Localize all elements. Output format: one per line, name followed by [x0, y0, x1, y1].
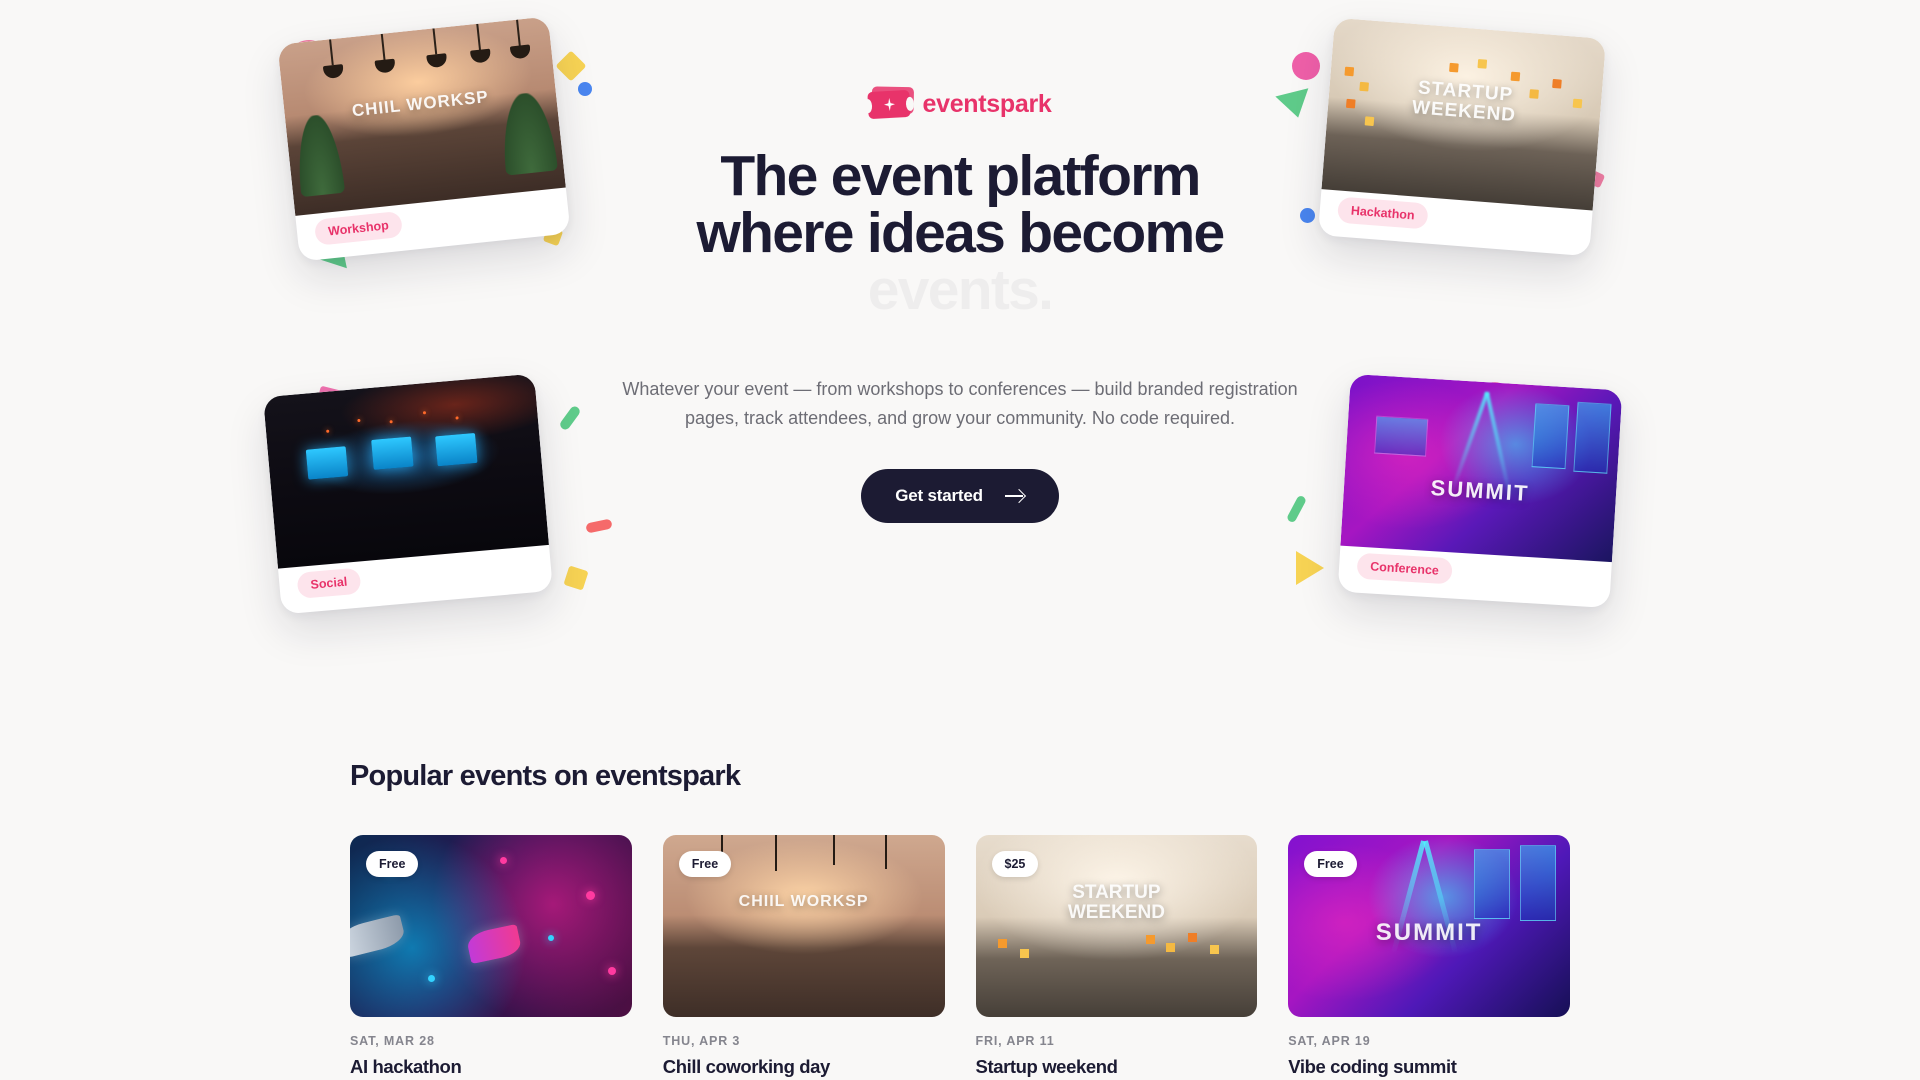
event-card[interactable]: STARTUP WEEKEND $25 FRI, APR 11 Startup …: [976, 835, 1258, 1078]
landing-page: CHIIL WORKSP Workshop STARTU: [0, 0, 1920, 1080]
headline-line-1: The event platform: [580, 148, 1340, 205]
event-date: SAT, MAR 28: [350, 1034, 632, 1048]
hackathon-photo: STARTUP WEEKEND: [1321, 18, 1606, 211]
event-card[interactable]: Free SAT, MAR 28 AI hackathon: [350, 835, 632, 1078]
brand-name: eventspark: [922, 90, 1051, 119]
deco-circle-magenta-tr: [1292, 52, 1320, 80]
floating-card-conference[interactable]: SUMMIT Conference: [1338, 374, 1623, 608]
brand-logo: eventspark: [580, 82, 1340, 126]
event-price-badge: $25: [992, 851, 1039, 877]
event-thumbnail: SUMMIT Free: [1288, 835, 1570, 1017]
arrow-right-icon: [1005, 489, 1025, 503]
event-price-badge: Free: [366, 851, 418, 877]
event-card[interactable]: CHIIL WORKSP Free THU, APR 3 Chill cowor…: [663, 835, 945, 1078]
event-date: THU, APR 3: [663, 1034, 945, 1048]
popular-events-title: Popular events on eventspark: [350, 760, 1570, 793]
event-title: AI hackathon: [350, 1056, 632, 1078]
event-date: FRI, APR 11: [976, 1034, 1258, 1048]
get-started-button[interactable]: Get started: [861, 469, 1059, 523]
conference-photo-art: [1340, 374, 1622, 562]
event-thumb-caption: CHIIL WORKSP: [663, 893, 945, 911]
social-photo-art: [263, 374, 549, 569]
deco-triangle-yellow-br: [1296, 551, 1324, 585]
event-thumbnail: CHIIL WORKSP Free: [663, 835, 945, 1017]
floating-card-workshop[interactable]: CHIIL WORKSP Workshop: [277, 16, 570, 261]
popular-events-section: Popular events on eventspark: [0, 760, 1920, 1078]
social-photo: [263, 374, 549, 569]
event-price-badge: Free: [1304, 851, 1356, 877]
deco-square-yellow-bl: [563, 565, 588, 590]
workshop-badge: Workshop: [314, 211, 403, 246]
floating-card-social[interactable]: Social: [263, 374, 553, 615]
social-badge: Social: [296, 568, 361, 599]
workshop-photo: CHIIL WORKSP: [277, 16, 565, 215]
event-card[interactable]: SUMMIT Free SAT, APR 19 Vibe coding summ…: [1288, 835, 1570, 1078]
hero-subheadline: Whatever your event — from workshops to …: [580, 375, 1340, 433]
hero-content: eventspark The event platform where idea…: [580, 82, 1340, 523]
event-title: Startup weekend: [976, 1056, 1258, 1078]
deco-diamond-yellow: [555, 50, 586, 81]
hackathon-badge: Hackathon: [1337, 197, 1429, 230]
hero-cta-wrap: Get started: [580, 469, 1340, 523]
event-thumb-caption: SUMMIT: [1288, 919, 1570, 947]
event-price-badge: Free: [679, 851, 731, 877]
conference-badge: Conference: [1356, 553, 1452, 585]
headline-line-3: events.: [580, 262, 1340, 319]
popular-events-inner: Popular events on eventspark: [350, 760, 1570, 1078]
event-thumbnail: Free: [350, 835, 632, 1017]
event-thumb-caption: STARTUP WEEKEND: [976, 883, 1258, 923]
deco-bar-green-bl: [558, 405, 581, 432]
page-title: The event platform where ideas become ev…: [580, 148, 1340, 319]
headline-line-2: where ideas become: [580, 205, 1340, 262]
floating-card-hackathon[interactable]: STARTUP WEEKEND Hackathon: [1318, 18, 1606, 257]
event-card-grid: Free SAT, MAR 28 AI hackathon CHIIL WORK…: [350, 835, 1570, 1078]
event-title: Vibe coding summit: [1288, 1056, 1570, 1078]
hero-section: CHIIL WORKSP Workshop STARTU: [0, 0, 1920, 690]
event-thumbnail: STARTUP WEEKEND $25: [976, 835, 1258, 1017]
ticket-sparkle-icon: [868, 89, 911, 118]
get-started-label: Get started: [895, 486, 983, 506]
conference-photo: SUMMIT: [1340, 374, 1622, 562]
event-title: Chill coworking day: [663, 1056, 945, 1078]
event-date: SAT, APR 19: [1288, 1034, 1570, 1048]
